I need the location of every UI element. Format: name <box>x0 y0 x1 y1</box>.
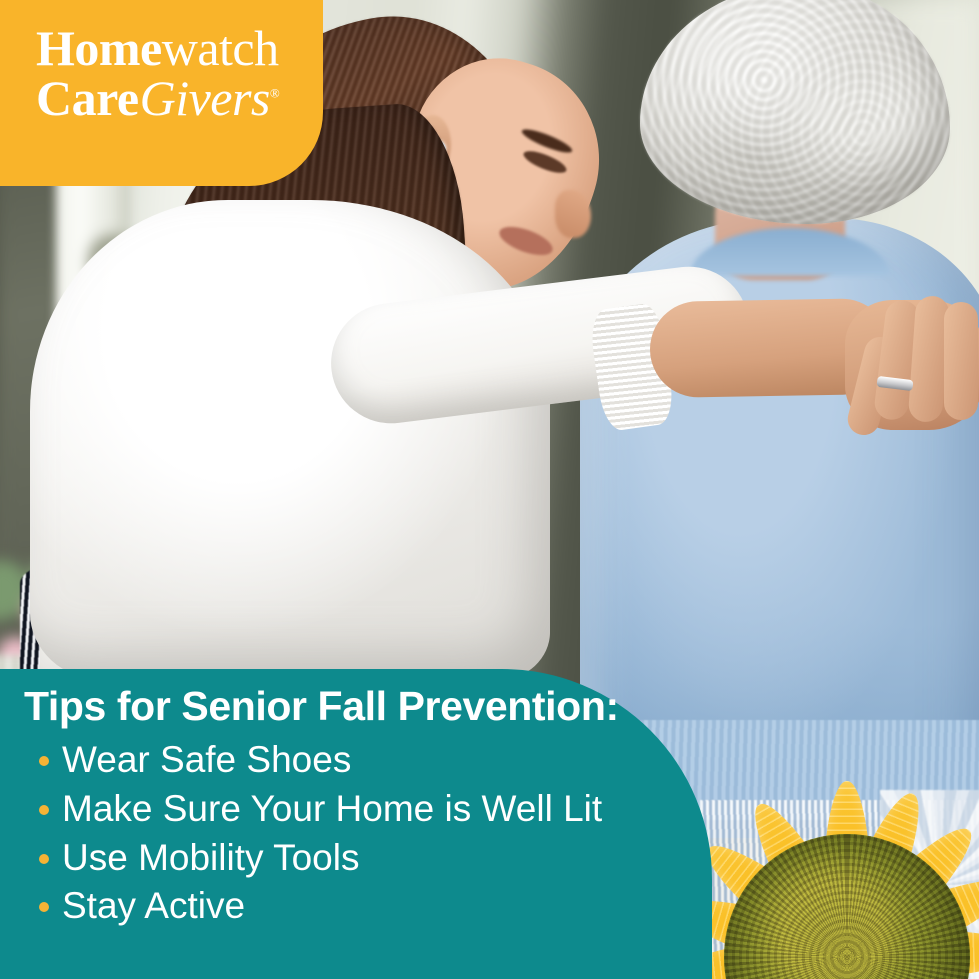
list-item: Wear Safe Shoes <box>62 736 696 785</box>
bullet-dot-icon <box>39 902 49 912</box>
logo-word-givers: Givers <box>139 70 270 126</box>
logo-line-two: CareGivers® <box>36 74 296 122</box>
logo-line-one: Homewatch <box>36 24 296 72</box>
caregiver-nose <box>555 190 591 238</box>
caregiver-white-cardigan <box>30 200 550 680</box>
homewatch-caregivers-logo: Homewatch CareGivers® <box>36 24 296 122</box>
caregiver-finger <box>944 302 978 420</box>
tip-label: Wear Safe Shoes <box>62 739 351 780</box>
senior-white-curly-hair <box>640 0 950 224</box>
tip-label: Make Sure Your Home is Well Lit <box>62 788 602 829</box>
poster-canvas: Homewatch CareGivers® Tips for Senior Fa… <box>0 0 979 979</box>
brand-logo-block: Homewatch CareGivers® <box>0 0 323 186</box>
bullet-dot-icon <box>39 756 49 766</box>
tips-panel: Tips for Senior Fall Prevention: Wear Sa… <box>0 669 712 979</box>
tips-panel-title: Tips for Senior Fall Prevention: <box>24 683 696 730</box>
bullet-dot-icon <box>39 805 49 815</box>
tips-panel-content: Tips for Senior Fall Prevention: Wear Sa… <box>24 683 696 931</box>
tip-label: Stay Active <box>62 885 245 926</box>
logo-word-watch: watch <box>162 20 279 76</box>
list-item: Stay Active <box>62 882 696 931</box>
logo-word-care: Care <box>36 70 139 126</box>
tip-label: Use Mobility Tools <box>62 837 359 878</box>
list-item: Use Mobility Tools <box>62 834 696 883</box>
list-item: Make Sure Your Home is Well Lit <box>62 785 696 834</box>
tips-list: Wear Safe Shoes Make Sure Your Home is W… <box>24 736 696 931</box>
registered-trademark-icon: ® <box>270 85 279 100</box>
bullet-dot-icon <box>39 854 49 864</box>
logo-word-home: Home <box>36 20 162 76</box>
